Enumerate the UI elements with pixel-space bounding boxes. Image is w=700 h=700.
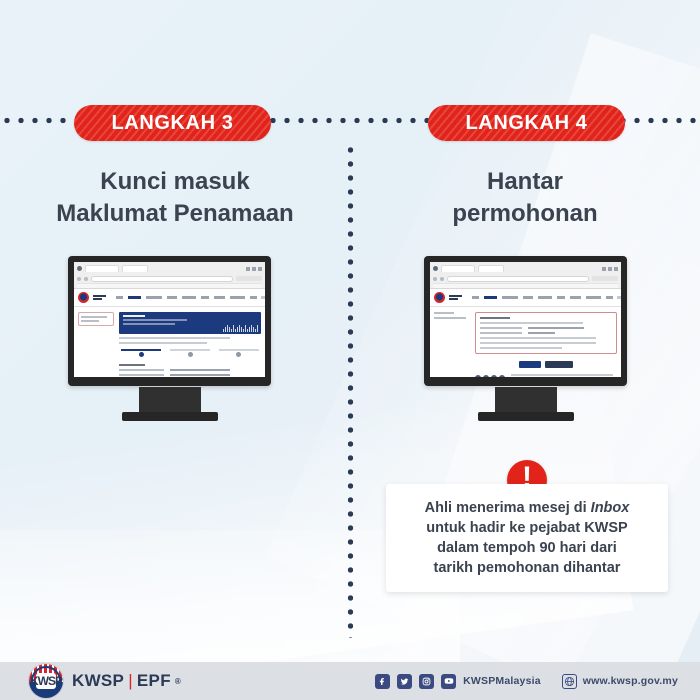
site-wordmark (449, 295, 462, 300)
form-content (119, 312, 261, 377)
page-body (430, 307, 621, 377)
site-header-actions (617, 296, 621, 299)
window-controls (602, 267, 618, 271)
notice-line-3: dalam tempoh 90 hari dari (398, 538, 656, 558)
paragraph-line (119, 342, 207, 344)
stepper-item (168, 349, 213, 357)
form-row (119, 374, 261, 376)
emblem-ring (31, 666, 61, 696)
confirmation-actions[interactable] (475, 361, 617, 368)
notice-line-2: untuk hadir ke pejabat KWSP (398, 518, 656, 538)
paragraph-line (480, 322, 583, 324)
infographic-page: LANGKAH 3 Kunci masuk Maklumat Penamaan (0, 0, 700, 700)
monitor-screen-nomination-form (74, 262, 265, 377)
monitor-bezel (424, 256, 627, 386)
notice-inbox-emphasis: Inbox (591, 500, 630, 516)
kwsp-logo-icon (78, 292, 89, 303)
address-bar (91, 276, 233, 282)
browser-menu-icon (77, 266, 82, 271)
fieldset-personal (119, 364, 261, 377)
notice-block: ! Ahli menerima mesej di Inbox untuk had… (386, 460, 668, 592)
browser-url-row (77, 274, 262, 283)
paragraph-line (480, 347, 562, 349)
youtube-icon[interactable] (441, 674, 456, 689)
social-handle-label: KWSPMalaysia (463, 675, 541, 687)
footer-social: KWSPMalaysia www.kwsp.gov.my (375, 674, 678, 689)
footer-brand: KWSP KWSP | EPF ® (28, 663, 181, 699)
instagram-icon[interactable] (419, 674, 434, 689)
wordmark-kwsp: KWSP (72, 671, 124, 691)
footnote-text (511, 374, 617, 377)
website-group[interactable]: www.kwsp.gov.my (562, 674, 678, 689)
form-row (119, 369, 261, 371)
page-body (74, 307, 265, 377)
site-header-actions (261, 296, 265, 299)
form-row (480, 327, 612, 329)
monitor-neck (495, 387, 557, 412)
monitor-neck (139, 387, 201, 412)
monitor-step-3 (68, 256, 271, 421)
browser-tab-row (433, 264, 618, 273)
stepper-item (216, 349, 261, 357)
step-title-3-line1: Kunci masuk (0, 166, 350, 198)
window-controls (246, 267, 262, 271)
back-button[interactable] (519, 361, 541, 368)
monitor-base (478, 412, 574, 421)
monitor-base (122, 412, 218, 421)
step-badge-3-label: LANGKAH 3 (111, 112, 233, 135)
globe-icon (562, 674, 577, 689)
browser-menu-icon (433, 266, 438, 271)
browser-tab (85, 265, 119, 272)
site-header (74, 289, 265, 307)
form-stepper (119, 349, 261, 357)
wordmark-separator: | (128, 671, 133, 691)
step-title-3: Kunci masuk Maklumat Penamaan (0, 166, 350, 229)
browser-chrome (430, 262, 621, 289)
banner-decoration (223, 325, 258, 332)
notice-line-1-text: Ahli menerima mesej di (425, 500, 591, 516)
footer-bar: KWSP KWSP | EPF ® (0, 662, 700, 700)
facebook-icon[interactable] (375, 674, 390, 689)
share-icons[interactable] (475, 375, 505, 377)
website-url-label: www.kwsp.gov.my (583, 675, 678, 687)
browser-toolbar-extras (592, 276, 618, 281)
browser-chrome (74, 262, 265, 289)
paragraph-line (480, 337, 596, 339)
browser-tab (478, 265, 504, 272)
back-icon (433, 277, 437, 281)
bookmarks-bar (77, 283, 262, 288)
address-bar (447, 276, 589, 282)
back-icon (77, 277, 81, 281)
wordmark-registered-mark: ® (175, 677, 181, 686)
submit-button[interactable] (545, 361, 573, 368)
stepper-item (119, 349, 164, 357)
monitor-screen-submit-confirmation (430, 262, 621, 377)
step-badge-4-label: LANGKAH 4 (465, 112, 587, 135)
site-nav (116, 296, 257, 299)
site-nav (472, 296, 613, 299)
twitter-icon[interactable] (397, 674, 412, 689)
notice-line-4: tarikh pemohonan dihantar (398, 558, 656, 578)
confirmation-footer (475, 371, 617, 377)
footer-wordmark: KWSP | EPF ® (72, 671, 181, 691)
browser-toolbar-extras (236, 276, 262, 281)
paragraph-line (480, 342, 596, 344)
forward-icon (84, 277, 88, 281)
step-title-4: Hantar permohonan (350, 166, 700, 229)
step-title-3-line2: Maklumat Penamaan (0, 198, 350, 230)
form-row (480, 332, 612, 334)
exclamation-glyph: ! (522, 463, 532, 493)
monitor-step-4 (424, 256, 627, 421)
step-badge-3: LANGKAH 3 (74, 105, 271, 141)
monitor-bezel (68, 256, 271, 386)
bookmarks-bar (433, 283, 618, 288)
confirmation-content (475, 312, 617, 377)
kwsp-emblem-icon: KWSP (28, 663, 64, 699)
wordmark-epf: EPF (137, 671, 171, 691)
paragraph-line (119, 337, 230, 339)
confirmation-box (475, 312, 617, 354)
browser-tab (441, 265, 475, 272)
site-wordmark (93, 295, 106, 300)
browser-tab-row (77, 264, 262, 273)
sidebar-links (434, 312, 470, 377)
step-badge-4: LANGKAH 4 (428, 105, 625, 141)
step-title-4-line2: permohonan (350, 198, 700, 230)
sidebar-card (78, 312, 114, 326)
step-title-4-line1: Hantar (350, 166, 700, 198)
kwsp-logo-icon (434, 292, 445, 303)
browser-tab (122, 265, 148, 272)
confirmation-title (480, 317, 510, 319)
page-banner (119, 312, 261, 334)
browser-url-row (433, 274, 618, 283)
site-header (430, 289, 621, 307)
fieldset-title (119, 364, 145, 366)
forward-icon (440, 277, 444, 281)
notice-card: Ahli menerima mesej di Inbox untuk hadir… (386, 484, 668, 592)
notice-line-1: Ahli menerima mesej di Inbox (398, 498, 656, 518)
